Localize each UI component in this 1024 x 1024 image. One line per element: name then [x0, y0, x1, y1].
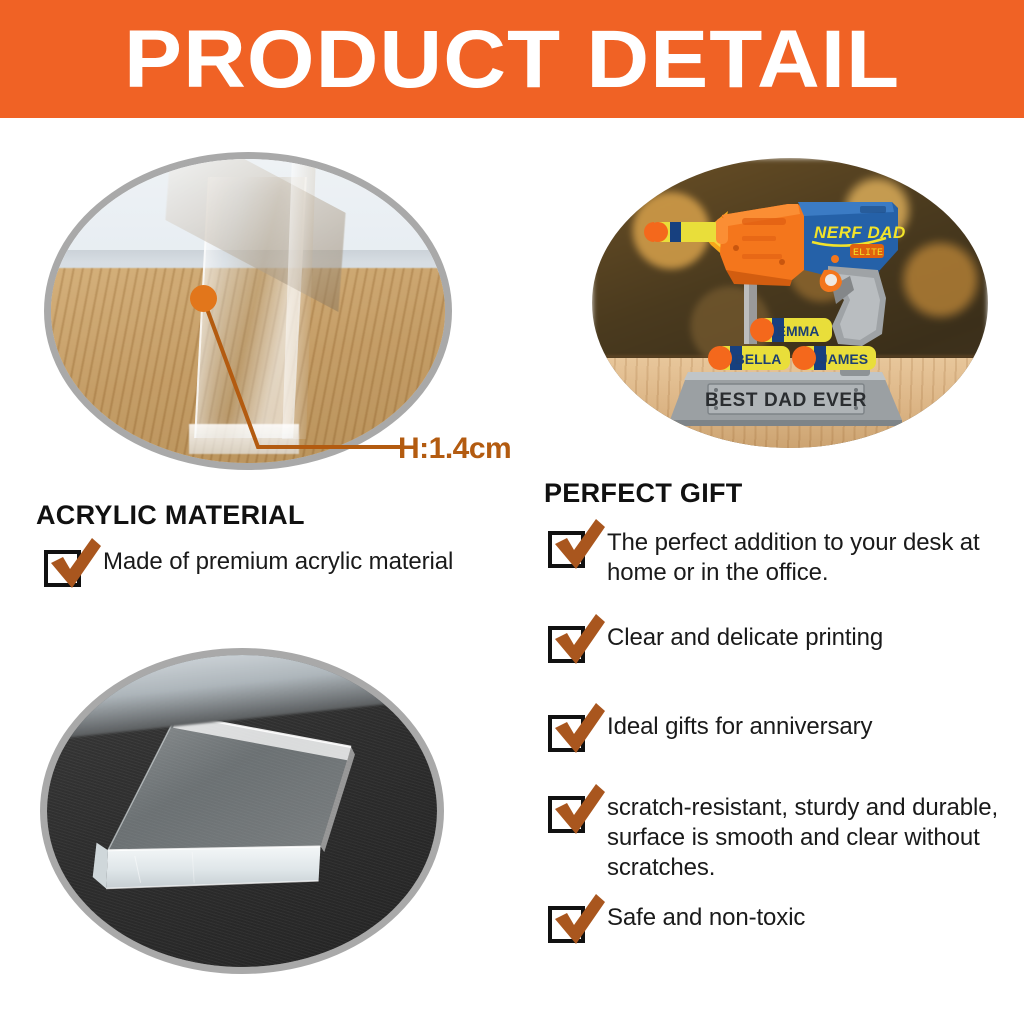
feature-text: scratch-resistant, sturdy and durable, s…: [607, 793, 1008, 882]
svg-text:EMMA: EMMA: [777, 323, 820, 339]
dart-emma: EMMA: [750, 318, 832, 342]
dart-james: JAMES: [792, 346, 876, 370]
plaque-text: BEST DAD EVER: [705, 390, 867, 411]
page-header-banner: PRODUCT DETAIL: [0, 0, 1024, 118]
checkbox-checked-icon[interactable]: [548, 626, 585, 663]
wood-table-scene: [51, 159, 445, 463]
feature-item: Clear and delicate printing: [548, 623, 1003, 663]
feature-text: Safe and non-toxic: [607, 903, 805, 933]
acrylic-bottom-bevel: [189, 424, 299, 454]
svg-text:ELITE: ELITE: [853, 248, 883, 259]
svg-text:JAMES: JAMES: [820, 351, 868, 367]
checkbox-checked-icon[interactable]: [44, 550, 81, 587]
section-heading-acrylic-material: ACRYLIC MATERIAL: [36, 500, 305, 531]
dart-bella: BELLA: [708, 346, 790, 370]
feature-text: The perfect addition to your desk at hom…: [607, 528, 1003, 588]
photo-nerf-dad-blaster-trophy: NERF DAD ELITE BEST DAD EVER: [592, 158, 988, 448]
svg-text:BELLA: BELLA: [735, 351, 782, 367]
checkbox-checked-icon[interactable]: [548, 796, 585, 833]
feature-item: Ideal gifts for anniversary: [548, 712, 1003, 752]
feature-text: Made of premium acrylic material: [103, 547, 453, 577]
photo-clear-acrylic-block: [40, 648, 444, 974]
callout-anchor-dot: [190, 285, 217, 312]
checkbox-checked-icon[interactable]: [548, 906, 585, 943]
feature-text: Ideal gifts for anniversary: [607, 712, 872, 742]
feature-item: Made of premium acrylic material: [44, 547, 514, 587]
slate-surface: [47, 655, 437, 967]
height-callout-label: H:1.4cm: [398, 432, 511, 466]
photo-acrylic-block-edge: [44, 152, 452, 470]
checkbox-checked-icon[interactable]: [548, 715, 585, 752]
svg-text:NERF DAD: NERF DAD: [814, 223, 906, 242]
feature-text: Clear and delicate printing: [607, 623, 883, 653]
feature-item: Safe and non-toxic: [548, 903, 1003, 943]
section-heading-perfect-gift: PERFECT GIFT: [544, 478, 743, 509]
blaster-trophy-illustration: NERF DAD ELITE BEST DAD EVER: [592, 158, 988, 448]
checkbox-checked-icon[interactable]: [548, 531, 585, 568]
feature-item: The perfect addition to your desk at hom…: [548, 528, 1003, 588]
feature-item: scratch-resistant, sturdy and durable, s…: [548, 793, 1008, 882]
page-title: PRODUCT DETAIL: [124, 19, 900, 101]
